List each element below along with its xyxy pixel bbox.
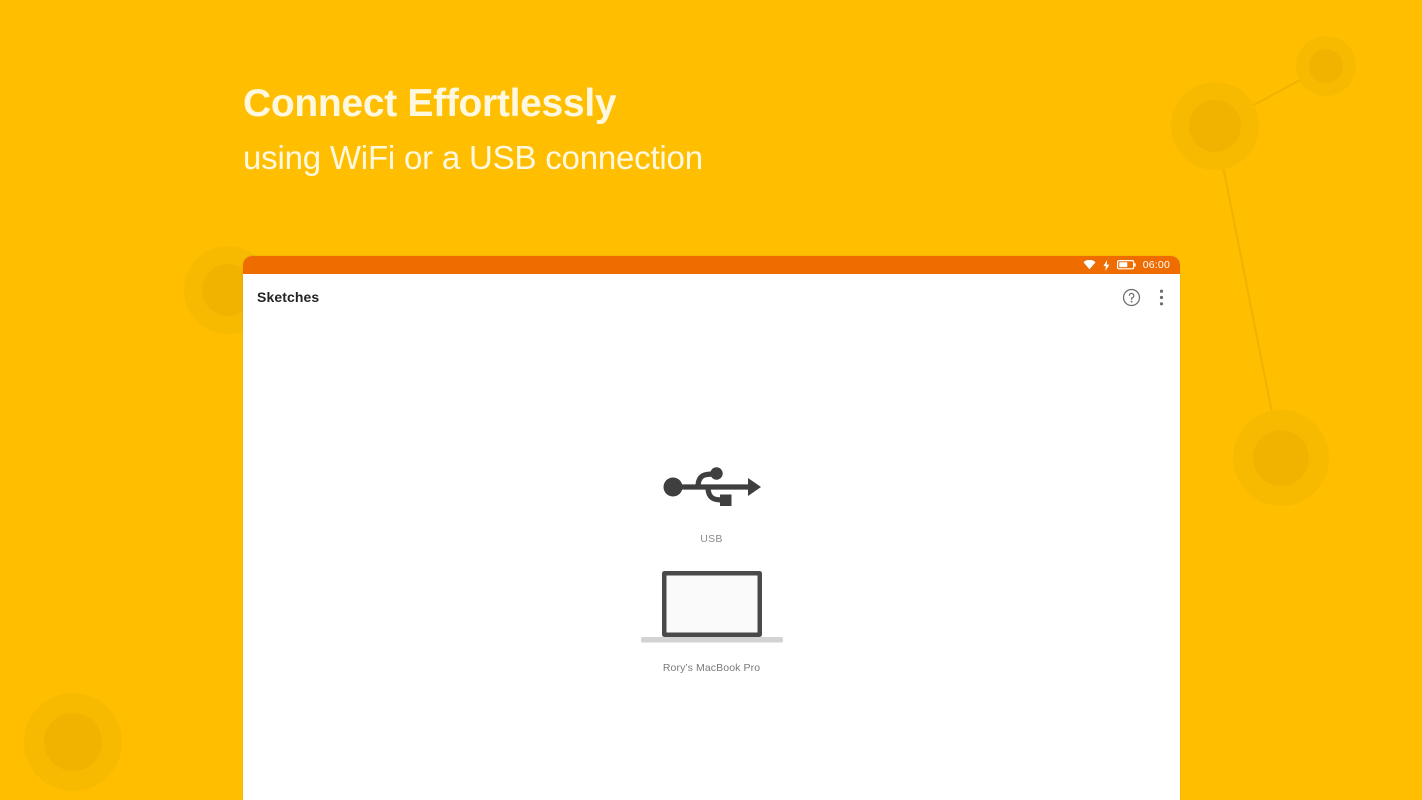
battery-icon: [1117, 260, 1136, 270]
network-node-core: [1253, 430, 1309, 486]
usb-circle-terminal: [663, 478, 682, 497]
usb-square-terminal: [720, 495, 732, 507]
laptop-icon: [641, 569, 783, 650]
charging-bolt-icon: [1103, 260, 1110, 271]
computer-label: Rory’s MacBook Pro: [663, 662, 760, 674]
network-node-core: [44, 713, 102, 771]
overflow-menu-icon[interactable]: [1159, 288, 1164, 307]
network-node-halo: [24, 693, 122, 791]
promo-headline: Connect Effortlessly: [243, 84, 703, 123]
usb-arrow-terminal: [748, 478, 761, 496]
network-link: [1215, 126, 1281, 458]
connection-content-area: USB Rory’s MacBook Pro: [243, 320, 1180, 800]
network-node-halo: [1296, 36, 1356, 96]
usb-label: USB: [700, 533, 723, 545]
wifi-icon: [1083, 260, 1096, 270]
network-node-core: [1309, 49, 1343, 83]
app-title: Sketches: [257, 289, 319, 305]
computer-connection-option[interactable]: Rory’s MacBook Pro: [243, 569, 1180, 674]
network-node-core: [1189, 100, 1241, 152]
help-circle-icon[interactable]: [1122, 288, 1141, 307]
tablet-device-frame: 06:00 Sketches: [243, 256, 1180, 800]
usb-icon: [662, 462, 762, 517]
promo-subheadline: using WiFi or a USB connection: [243, 141, 703, 174]
app-bar-actions: [1122, 288, 1164, 307]
app-bar: Sketches: [243, 274, 1180, 320]
network-node-halo: [1171, 82, 1259, 170]
android-status-bar: 06:00: [243, 256, 1180, 274]
network-link: [1215, 66, 1326, 126]
status-bar-clock: 06:00: [1143, 259, 1170, 271]
laptop-base: [641, 637, 783, 643]
usb-dot-terminal: [710, 467, 722, 479]
network-links: [1215, 66, 1326, 458]
network-node-halo: [1233, 410, 1329, 506]
promo-copy: Connect Effortlessly using WiFi or a USB…: [243, 84, 703, 174]
usb-connection-option[interactable]: USB: [243, 462, 1180, 545]
laptop-screen: [666, 576, 757, 633]
